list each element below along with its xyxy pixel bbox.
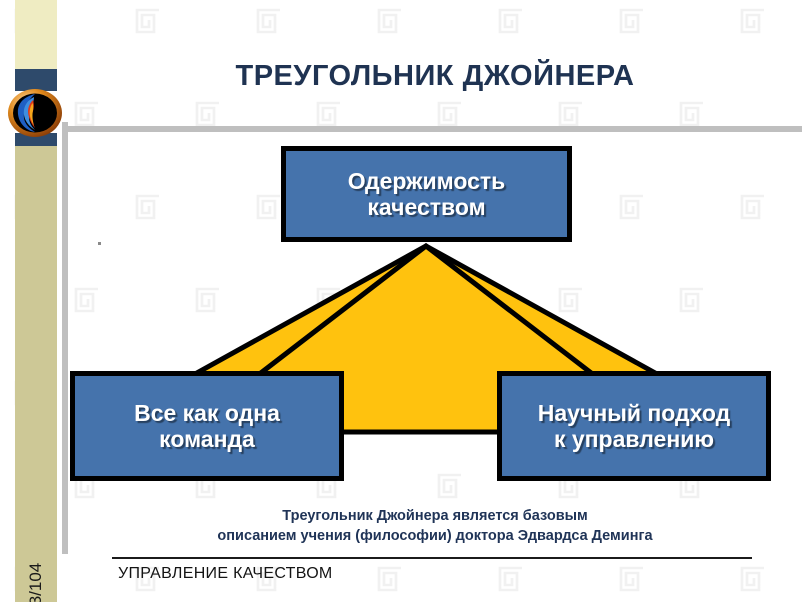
square-spiral-watermark-icon [619, 8, 645, 34]
square-spiral-watermark-icon [437, 473, 463, 499]
footer-title: УПРАВЛЕНИЕ КАЧЕСТВОМ [118, 565, 333, 583]
node-top-label-line2: качеством [367, 194, 485, 220]
vertical-divider-rule [62, 122, 68, 554]
square-spiral-watermark-icon [135, 8, 161, 34]
square-spiral-watermark-icon [498, 566, 524, 592]
stray-mark [98, 242, 101, 245]
caption-line-1: Треугольник Джойнера является базовым [90, 507, 780, 527]
square-spiral-watermark-icon [316, 287, 342, 313]
flame-yin-yang-logo-icon [7, 88, 63, 138]
square-spiral-watermark-icon [558, 287, 584, 313]
square-spiral-watermark-icon [740, 8, 766, 34]
caption-line-2: описанием учения (философии) доктора Эдв… [90, 527, 780, 547]
title-underline-rule [67, 126, 802, 132]
square-spiral-watermark-icon [679, 287, 705, 313]
caption-text: Треугольник Джойнера является базовым оп… [90, 507, 780, 546]
node-right-label: Научный подход к управлению [532, 400, 736, 452]
square-spiral-watermark-icon [740, 566, 766, 592]
bottom-edge [0, 598, 802, 602]
square-spiral-watermark-icon [135, 194, 161, 220]
square-spiral-watermark-icon [619, 566, 645, 592]
node-top-box[interactable]: Одержимость качеством [281, 146, 572, 242]
square-spiral-watermark-icon [377, 8, 403, 34]
node-top-label: Одержимость качеством [342, 168, 512, 220]
slide-canvas: 3/104 ТРЕУГОЛЬНИК ДЖОЙНЕРА [0, 0, 802, 602]
square-spiral-watermark-icon [377, 566, 403, 592]
square-spiral-watermark-icon [256, 8, 282, 34]
node-right-label-line2: к управлению [554, 426, 714, 452]
square-spiral-watermark-icon [195, 101, 221, 127]
page-title: ТРЕУГОЛЬНИК ДЖОЙНЕРА [90, 60, 780, 93]
node-left-box[interactable]: Все как одна команда [70, 371, 344, 481]
square-spiral-watermark-icon [558, 101, 584, 127]
sidebar-band-top [15, 0, 57, 72]
square-spiral-watermark-icon [74, 287, 100, 313]
square-spiral-watermark-icon [619, 194, 645, 220]
square-spiral-watermark-icon [437, 287, 463, 313]
node-left-label-line1: Все как одна [134, 400, 280, 426]
node-left-label-line2: команда [159, 426, 255, 452]
node-right-box[interactable]: Научный подход к управлению [497, 371, 771, 481]
square-spiral-watermark-icon [679, 101, 705, 127]
node-left-label: Все как одна команда [128, 400, 286, 452]
square-spiral-watermark-icon [740, 194, 766, 220]
square-spiral-watermark-icon [256, 194, 282, 220]
footer-divider-rule [112, 557, 752, 559]
sidebar-band-bottom: 3/104 [15, 146, 57, 602]
page-number: 3/104 [26, 546, 46, 602]
square-spiral-watermark-icon [437, 101, 463, 127]
node-top-label-line1: Одержимость [348, 168, 506, 194]
square-spiral-watermark-icon [377, 380, 403, 406]
square-spiral-watermark-icon [74, 101, 100, 127]
square-spiral-watermark-icon [316, 101, 342, 127]
square-spiral-watermark-icon [498, 8, 524, 34]
square-spiral-watermark-icon [195, 287, 221, 313]
node-right-label-line1: Научный подход [538, 400, 730, 426]
